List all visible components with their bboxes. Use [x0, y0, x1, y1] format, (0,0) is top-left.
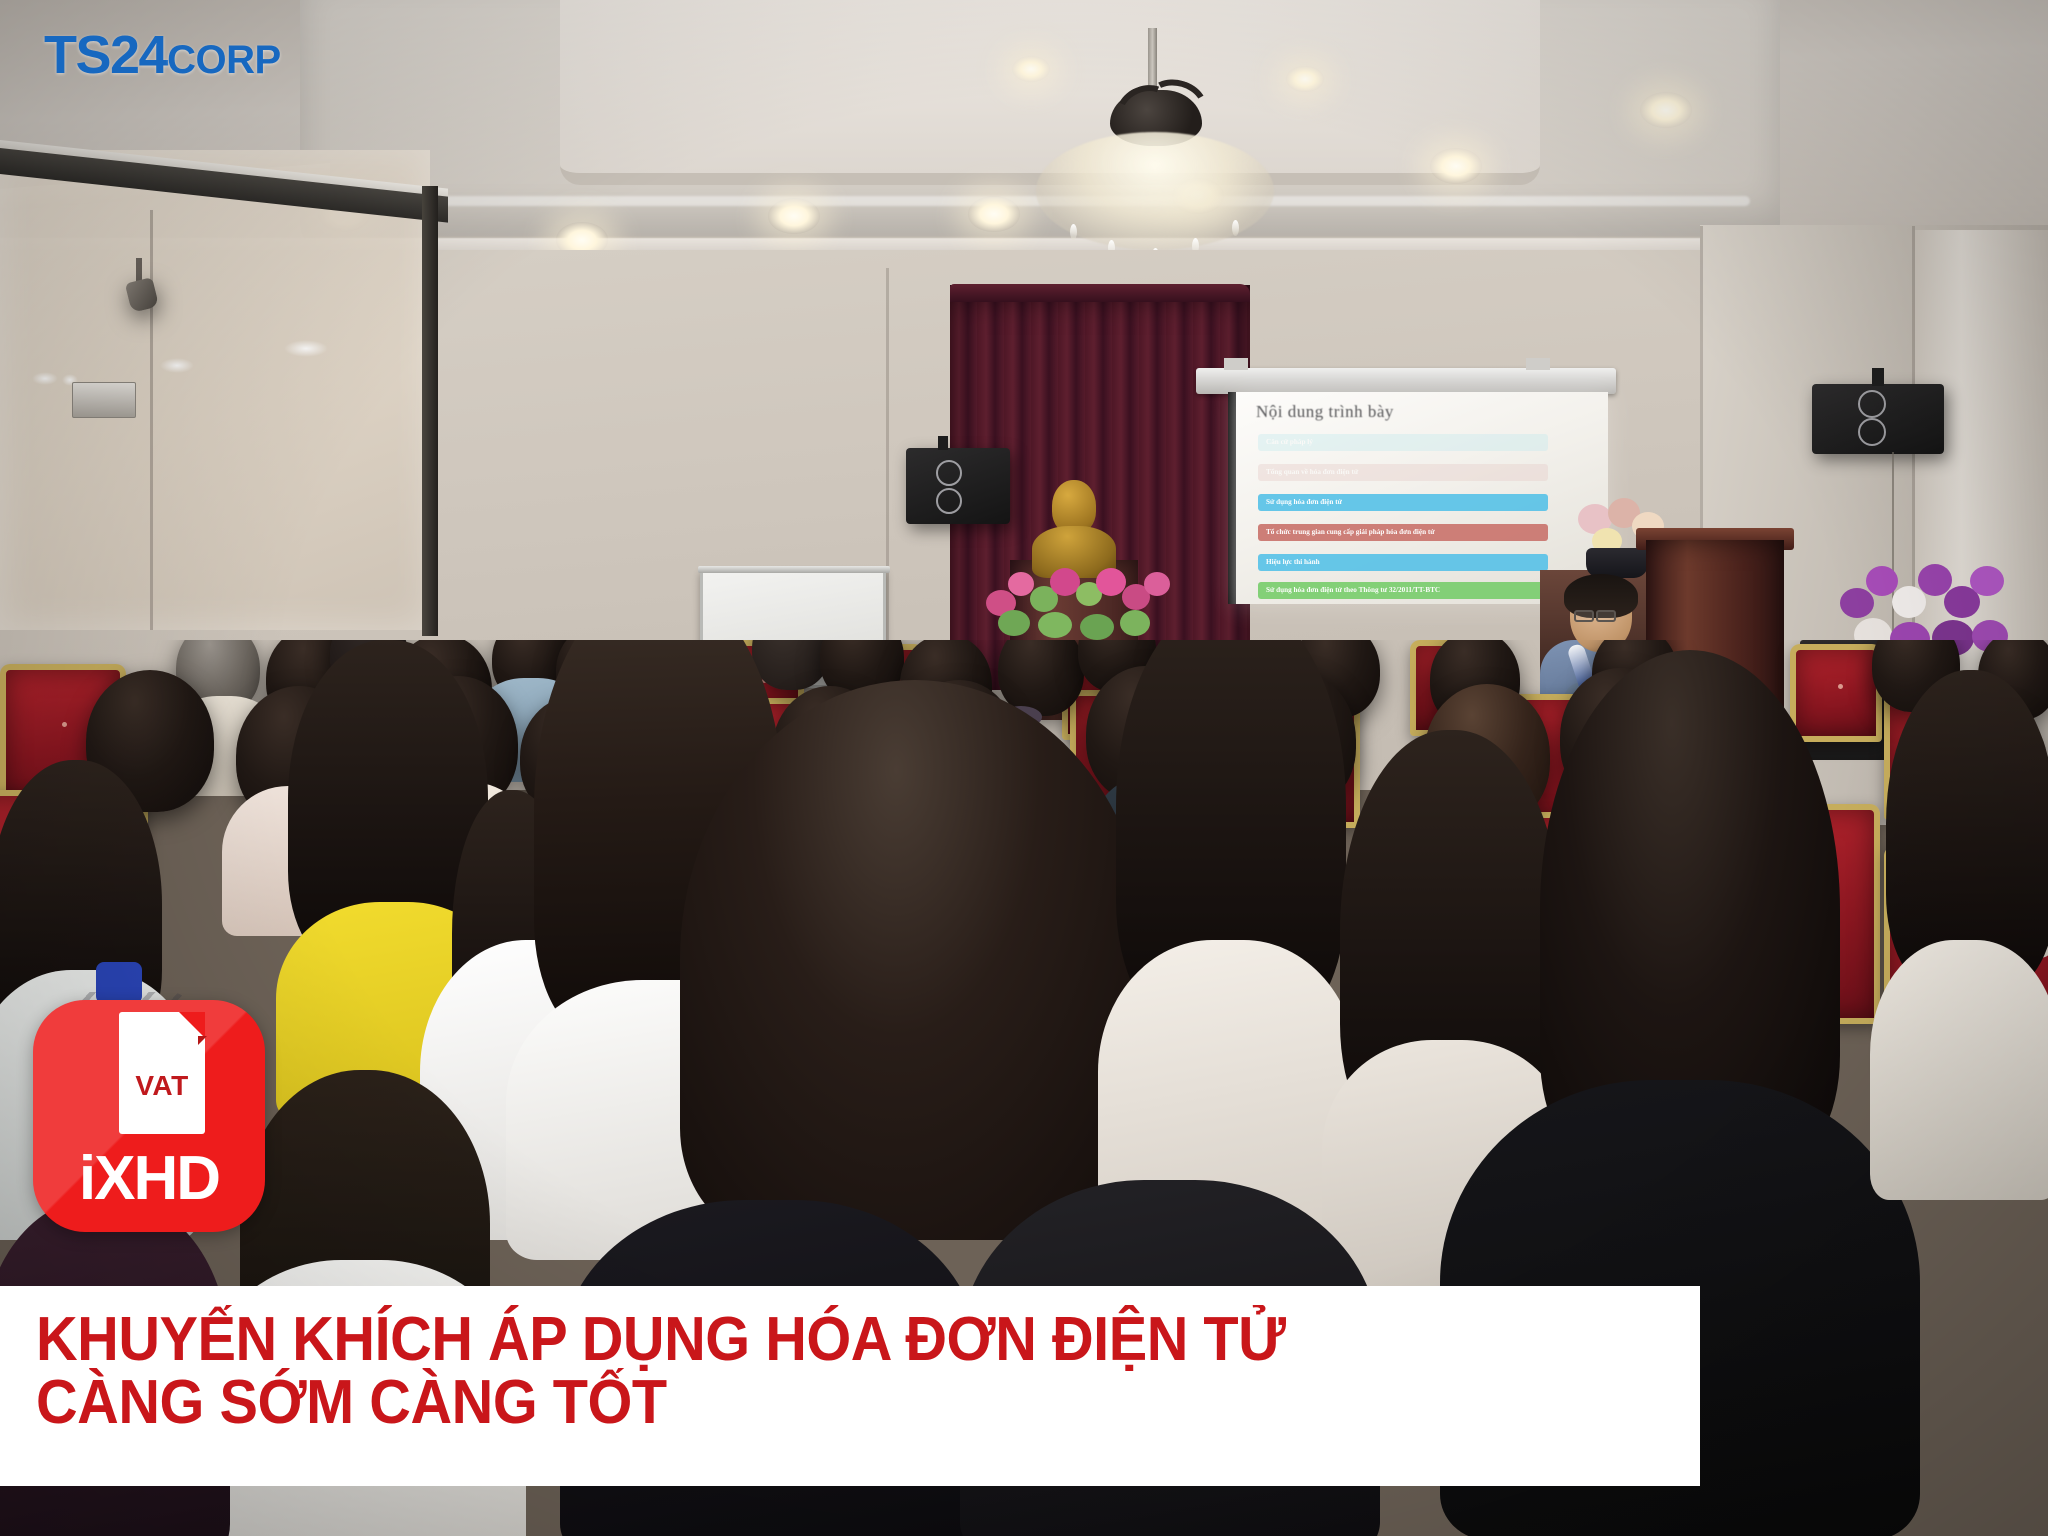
logo-secondary-text: CORP [167, 38, 281, 82]
speaker-driver-ring [1858, 418, 1886, 446]
glass-reflection [160, 358, 194, 373]
audience-torso [1870, 940, 2048, 1200]
flower-leaf [998, 610, 1030, 636]
slide-bar: Tổ chức trung gian cung cấp giải pháp hó… [1258, 524, 1548, 541]
flower-petal [1144, 572, 1170, 596]
document-icon: VAT [119, 1012, 205, 1134]
glass-partition [0, 150, 430, 630]
glass-door-handle[interactable] [72, 382, 136, 418]
vat-label: VAT [119, 1070, 205, 1102]
screenshot-stage: Nội dung trình bày Căn cứ pháp lý Tổng q… [0, 0, 2048, 1536]
track-spotlight [128, 258, 154, 310]
orchid-petal [1840, 588, 1874, 618]
projector-screen-edge [1228, 392, 1236, 604]
speaker-driver-ring [936, 460, 962, 486]
chandelier-crystal [1232, 220, 1239, 236]
wall-mounted-speaker [906, 448, 1010, 524]
ceiling-downlight [1430, 148, 1482, 184]
wall-seam [886, 268, 889, 688]
flower-petal [1096, 568, 1126, 596]
document-fold-corner [179, 1012, 205, 1038]
flower-leaf [1080, 614, 1114, 640]
slide-bar: Sử dụng hóa đơn điện tử [1258, 494, 1548, 511]
crystal-chandelier [1040, 28, 1270, 258]
flower-petal [1008, 572, 1034, 596]
slide-bar: Hiệu lực thi hành [1258, 554, 1548, 571]
curtain-valance [950, 284, 1250, 302]
caption-line-2: CÀNG SỚM CÀNG TỐT [36, 1371, 1584, 1434]
glass-frame-right [422, 186, 438, 636]
glass-reflection [284, 340, 328, 357]
orchid-petal [1892, 586, 1926, 618]
speaker-driver-ring [936, 488, 962, 514]
logo-primary-text: TS24 [44, 25, 167, 85]
wall-mounted-speaker [1812, 384, 1944, 454]
ceiling-downlight [768, 198, 820, 234]
screen-mount [1224, 358, 1248, 370]
glass-reflection [32, 372, 58, 385]
ixhd-label: iXHD [33, 1143, 265, 1214]
ceiling-downlight [1640, 92, 1692, 128]
ts24-corp-logo: TS24CORP [44, 28, 281, 82]
slide-bar: Căn cứ pháp lý [1258, 434, 1548, 451]
caption-banner: KHUYẾN KHÍCH ÁP DỤNG HÓA ĐƠN ĐIỆN TỬ CÀN… [0, 1286, 1700, 1486]
caption-line-1: KHUYẾN KHÍCH ÁP DỤNG HÓA ĐƠN ĐIỆN TỬ [36, 1308, 1584, 1371]
ceiling-downlight [968, 196, 1020, 232]
orchid-petal [1970, 566, 2004, 596]
speaker-driver-ring [1858, 390, 1886, 418]
lanyard [96, 962, 142, 1004]
spotlight-arm [136, 258, 142, 282]
ceiling-downlight [1286, 66, 1324, 92]
speaker-bracket [938, 436, 948, 450]
orchid-petal [1866, 566, 1898, 596]
presenter-glasses [1574, 610, 1594, 622]
chandelier-crystal [1070, 224, 1077, 240]
flower-leaf [1120, 610, 1150, 636]
slide-bar: Tổng quan về hóa đơn điện tử [1258, 464, 1548, 481]
slide-bar: Sử dụng hóa đơn điện tử theo Thông tư 32… [1258, 582, 1548, 599]
vat-ixhd-badge[interactable]: VAT iXHD [33, 1000, 265, 1232]
flower-arrangement-bust [980, 556, 1176, 642]
projector-screen-case [1196, 368, 1616, 394]
slide-title: Nội dung trình bày [1256, 402, 1394, 422]
whiteboard-frame-top [698, 566, 890, 573]
flower-leaf [1038, 612, 1072, 638]
screen-mount [1526, 358, 1550, 370]
audience-head-foreground [680, 680, 1150, 1240]
speaker-bracket [1872, 368, 1884, 386]
document-fold-shadow [198, 1036, 207, 1045]
chair [1790, 644, 1882, 742]
presenter-glasses [1596, 610, 1616, 622]
